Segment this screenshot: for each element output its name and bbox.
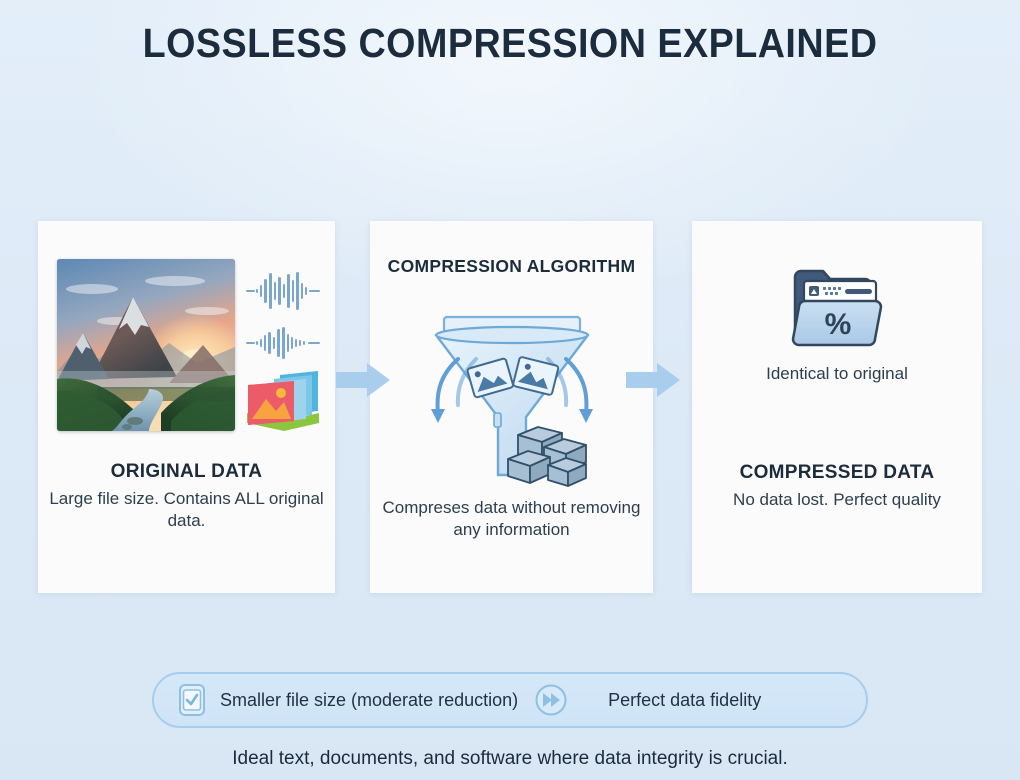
infographic-canvas: LOSSLESS COMPRESSION EXPLAINED (0, 0, 1020, 780)
card-algorithm-body: Compreses data without removing any info… (376, 497, 647, 541)
benefits-pill: Smaller file size (moderate reduction) P… (152, 672, 868, 728)
checkbox-icon (178, 683, 206, 717)
audio-waveform-icon-1 (246, 269, 320, 313)
compressed-folder-icon: % (787, 261, 887, 353)
funnel-icon (414, 309, 610, 489)
footnote-text: Ideal text, documents, and software wher… (0, 748, 1020, 770)
svg-text:%: % (825, 308, 852, 341)
image-stack-icon (244, 369, 322, 431)
fast-forward-icon (534, 683, 568, 717)
card-compressed-heading: COMPRESSED DATA (692, 462, 982, 484)
card-original-data: ORIGINAL DATA Large file size. Contains … (38, 221, 335, 593)
card-original-body: Large file size. Contains ALL original d… (44, 488, 329, 532)
audio-waveform-icon-2 (246, 321, 320, 365)
card-compressed-data: % Identical to original COMPRESSED DATA … (692, 221, 982, 593)
arrow-algorithm-to-compressed-icon (626, 360, 680, 400)
card-algorithm-heading: COMPRESSION ALGORITHM (370, 256, 653, 277)
card-compressed-caption: Identical to original (698, 363, 976, 385)
arrow-original-to-algorithm-icon (336, 360, 390, 400)
card-compressed-body: No data lost. Perfect quality (698, 489, 976, 511)
pill-left-label: Smaller file size (moderate reduction) (220, 690, 518, 711)
card-compression-algorithm: COMPRESSION ALGORITHM (370, 221, 653, 593)
pill-right-label: Perfect data fidelity (608, 690, 761, 711)
landscape-photo (57, 259, 235, 431)
page-title: LOSSLESS COMPRESSION EXPLAINED (41, 20, 979, 67)
card-original-heading: ORIGINAL DATA (38, 461, 335, 483)
